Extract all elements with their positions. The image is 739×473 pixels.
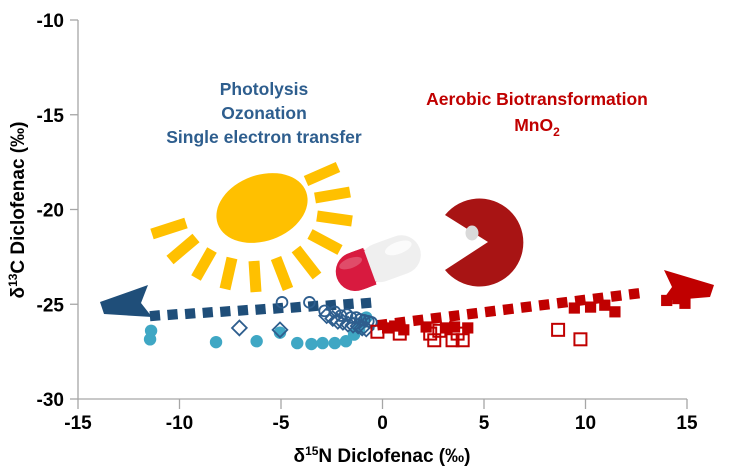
data-point — [316, 337, 328, 349]
data-point — [145, 325, 157, 337]
y-tick-label: -20 — [37, 201, 64, 222]
data-point — [329, 337, 341, 349]
data-point — [449, 321, 460, 332]
x-tick-label: 15 — [676, 413, 698, 434]
x-tick-label: 0 — [377, 413, 388, 434]
x-axis-title: δ15N Diclofenac (‰) — [294, 444, 471, 467]
data-point — [679, 298, 690, 309]
x-tick-label: -10 — [166, 413, 193, 434]
data-point — [210, 336, 222, 348]
annotation-single-electron-transfer: Single electron transfer — [166, 127, 362, 147]
scatter-plot-svg: -10 -15 -20 -25 -30 -15 -10 -5 0 — [0, 0, 739, 473]
data-point — [462, 322, 473, 333]
y-tick-label: -30 — [37, 390, 64, 411]
data-point — [599, 300, 610, 311]
x-tick-label: -15 — [64, 413, 92, 434]
annotation-photolysis: Photolysis — [220, 79, 309, 99]
data-point — [291, 337, 303, 349]
y-tick-label: -15 — [37, 106, 65, 127]
x-tick-label: -5 — [273, 413, 290, 434]
data-point — [250, 335, 262, 347]
y-tick-label: -25 — [37, 295, 65, 316]
figure-background — [0, 0, 739, 473]
data-point — [585, 301, 596, 312]
chart-figure: -10 -15 -20 -25 -30 -15 -10 -5 0 — [0, 0, 739, 473]
y-axis-title: δ13C Diclofenac (‰) — [6, 122, 29, 299]
data-point — [609, 306, 620, 317]
x-tick-label: 10 — [575, 413, 596, 434]
annotation-aerobic-biotransformation: Aerobic Biotransformation — [426, 89, 648, 109]
annotation-ozonation: Ozonation — [221, 103, 307, 123]
data-point — [661, 295, 672, 306]
data-point — [398, 324, 409, 335]
data-point — [569, 302, 580, 313]
data-point — [305, 338, 317, 350]
data-point — [421, 321, 432, 332]
x-tick-label: 5 — [479, 413, 490, 434]
y-tick-label: -10 — [37, 11, 64, 32]
